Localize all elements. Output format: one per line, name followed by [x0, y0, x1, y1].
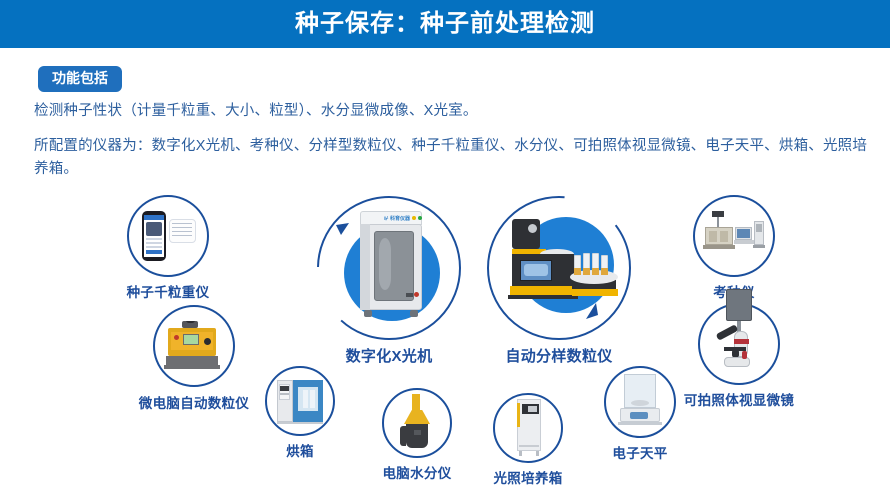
feature-description-paragraph: 检测种子性状（计量千粒重、大小、粒型）、水分显微成像、X光室。: [34, 100, 854, 123]
page-header: 种子保存：种子前处理检测: [0, 0, 890, 48]
section-badge-features: 功能包括: [38, 66, 122, 92]
seed-counter-illustration: [164, 321, 224, 373]
node-label: 种子千粒重仪: [89, 281, 247, 301]
node-label: 电脑水分仪: [361, 462, 473, 482]
node-drying-oven[interactable]: 烘箱: [265, 366, 335, 436]
node-label: 自动分样数粒仪: [469, 345, 649, 366]
drying-oven-illustration: [277, 378, 325, 424]
light-incubator-illustration: [515, 399, 543, 457]
moisture-meter-illustration: [400, 394, 436, 452]
phone-app-illustration: [138, 206, 198, 266]
electronic-balance-illustration: [616, 374, 664, 432]
node-label: 可拍照体视显微镜: [668, 389, 810, 409]
instrument-diagram: 种子千粒重仪 微电脑自动数粒仪 ⊮ 科育仪器: [0, 185, 890, 499]
node-electronic-balance[interactable]: 电子天平: [604, 366, 676, 438]
node-seed-test-analyzer[interactable]: 考种仪: [693, 195, 775, 277]
node-label: 电子天平: [585, 442, 695, 462]
node-label: 烘箱: [245, 440, 355, 460]
node-micro-computer-auto-seed-counter[interactable]: 微电脑自动数粒仪: [153, 305, 235, 387]
seed-analyzer-illustration: [703, 211, 765, 263]
xray-cabinet-illustration: ⊮ 科育仪器: [350, 211, 432, 327]
node-label: 光照培养箱: [472, 467, 584, 487]
auto-sampler-illustration: [502, 219, 620, 311]
node-seed-thousand-grain-weight[interactable]: 种子千粒重仪: [127, 195, 209, 277]
microscope-illustration: [712, 289, 768, 381]
node-photographic-stereo-microscope[interactable]: 可拍照体视显微镜: [698, 303, 780, 385]
node-auto-sampling-seed-counter[interactable]: 自动分样数粒仪: [486, 195, 632, 341]
instrument-list-paragraph: 所配置的仪器为：数字化X光机、考种仪、分样型数粒仪、种子千粒重仪、水分仪、可拍照…: [34, 135, 876, 181]
node-light-incubator[interactable]: 光照培养箱: [493, 393, 563, 463]
node-computer-moisture-meter[interactable]: 电脑水分仪: [382, 388, 452, 458]
node-digital-xray-machine[interactable]: ⊮ 科育仪器 数字化X光机: [316, 195, 462, 341]
page-title: 种子保存：种子前处理检测: [295, 12, 595, 36]
node-label: 微电脑自动数粒仪: [105, 392, 283, 412]
node-label: 数字化X光机: [299, 345, 479, 366]
